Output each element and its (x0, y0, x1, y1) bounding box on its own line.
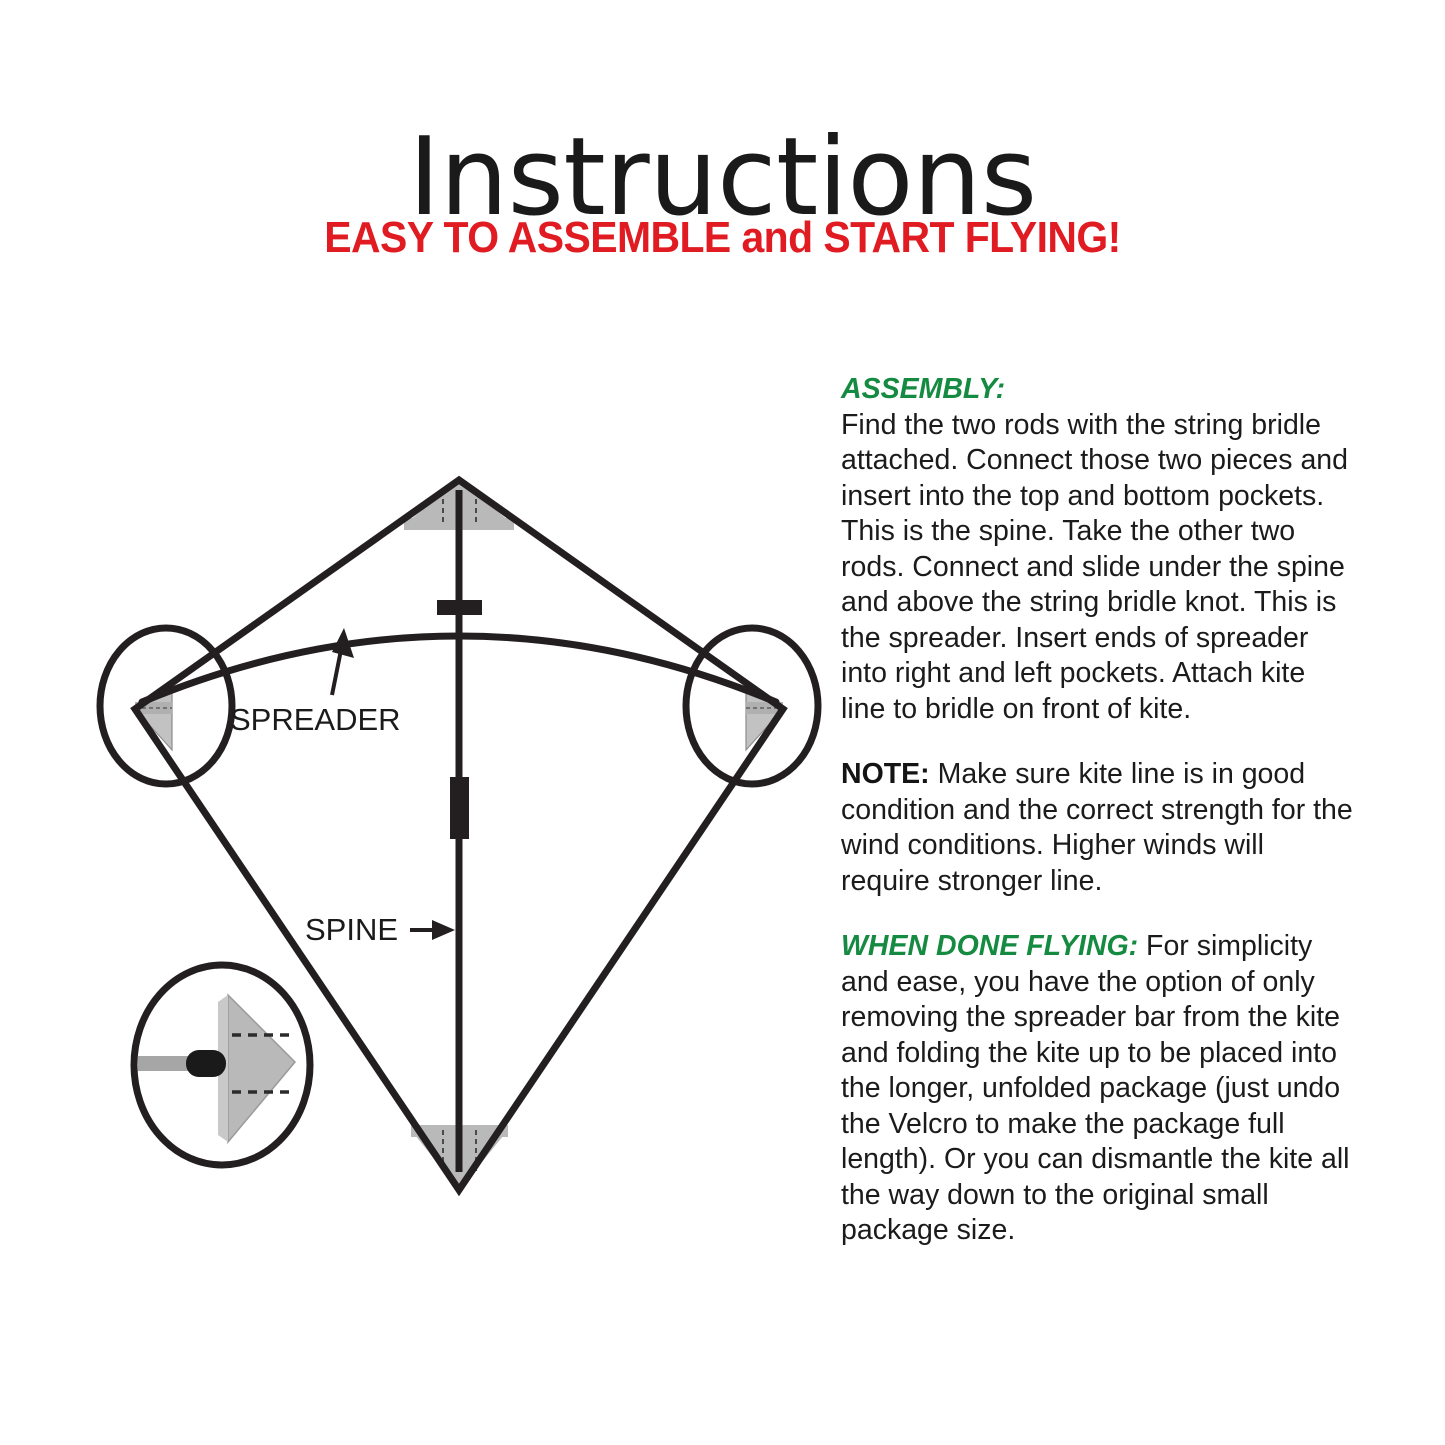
instructions-text-column: ASSEMBLY:Find the two rods with the stri… (841, 372, 1353, 1249)
inset-detail-circle (134, 965, 310, 1165)
spine-connector-upper (437, 600, 482, 615)
when-done-flying-heading: WHEN DONE FLYING: (841, 930, 1138, 962)
instructions-page: Instructions EASY TO ASSEMBLE and START … (0, 0, 1445, 1445)
spreader-label: SPREADER (230, 702, 401, 737)
spine-connector-lower (450, 777, 469, 839)
spine-label: SPINE (305, 912, 398, 947)
assembly-heading: ASSEMBLY: (841, 372, 1353, 408)
when-done-flying-paragraph: WHEN DONE FLYING: For simplicity and eas… (841, 929, 1353, 1249)
inset-rod-cap (186, 1050, 226, 1077)
note-paragraph: NOTE: Make sure kite line is in good con… (841, 757, 1353, 899)
assembly-body: Find the two rods with the string bridle… (841, 409, 1348, 725)
note-heading: NOTE: (841, 758, 930, 790)
page-subtitle: EASY TO ASSEMBLE and START FLYING! (51, 216, 1395, 260)
kite-assembly-diagram: SPREADER SPINE (80, 430, 870, 1230)
spine-callout: SPINE (305, 912, 455, 947)
assembly-paragraph: ASSEMBLY:Find the two rods with the stri… (841, 372, 1353, 727)
when-done-flying-body: For simplicity and ease, you have the op… (841, 930, 1350, 1246)
spreader-callout: SPREADER (230, 628, 401, 737)
